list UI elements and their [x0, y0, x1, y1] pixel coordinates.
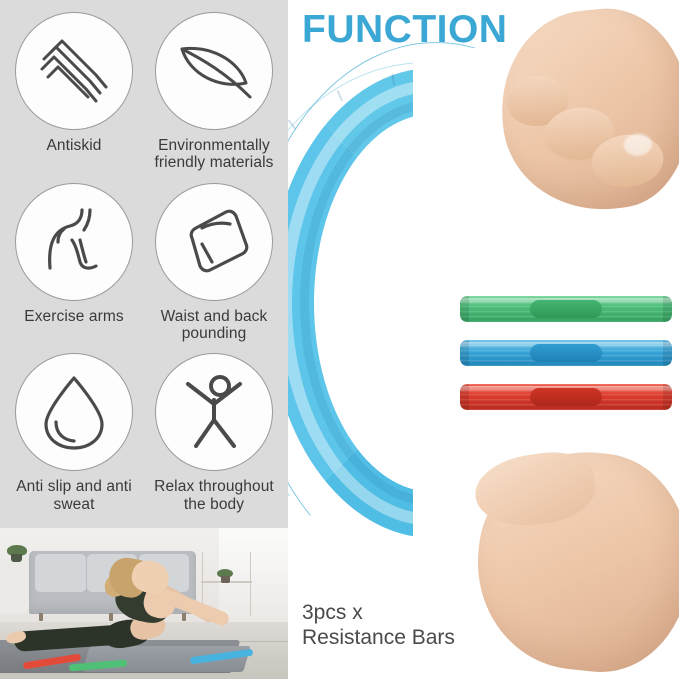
- stick-figure-icon: [168, 366, 260, 458]
- icon-badge: [155, 183, 273, 301]
- photo-plant: [6, 546, 28, 562]
- product-caption: 3pcs x Resistance Bars: [302, 600, 455, 651]
- product-infographic: Antiskid Environmentally friendly materi…: [0, 0, 679, 679]
- icon-badge: [15, 353, 133, 471]
- feature-item-antiskid: Antiskid: [4, 12, 144, 183]
- flexing-arm-icon: [28, 196, 120, 288]
- leaf-icon: [168, 25, 260, 117]
- feature-row: Exercise arms Waist and back pounding: [4, 183, 284, 354]
- feature-item-eco-materials: Environmentally friendly materials: [144, 12, 284, 183]
- hand-gripping-bottom: [467, 442, 679, 679]
- feature-label: Antiskid: [44, 137, 103, 154]
- green-resistance-bar: [460, 296, 672, 322]
- feature-panel: Antiskid Environmentally friendly materi…: [0, 0, 288, 528]
- feature-row: Antiskid Environmentally friendly materi…: [4, 12, 284, 183]
- woman-yoga-cobra-pose-photo: [0, 528, 288, 679]
- feature-label: Anti slip and anti sweat: [4, 478, 144, 513]
- feature-label: Relax throughout the body: [144, 478, 284, 513]
- zigzag-lines-icon: [28, 25, 120, 117]
- icon-badge: [155, 353, 273, 471]
- feature-item-anti-slip-sweat: Anti slip and anti sweat: [4, 353, 144, 524]
- water-drop-icon: [28, 366, 120, 458]
- icon-badge: [15, 12, 133, 130]
- blue-resistance-bar: [460, 340, 672, 366]
- feature-label: Environmentally friendly materials: [144, 137, 284, 172]
- hero-section: FUNCTION: [288, 0, 679, 679]
- massage-pad-icon: [168, 196, 260, 288]
- feature-row: Anti slip and anti sweat: [4, 353, 284, 524]
- icon-badge: [155, 12, 273, 130]
- page-title: FUNCTION: [302, 10, 507, 49]
- red-resistance-bar: [460, 384, 672, 410]
- feature-item-exercise-arms: Exercise arms: [4, 183, 144, 354]
- feature-label: Exercise arms: [22, 308, 125, 325]
- feature-item-waist-back-pounding: Waist and back pounding: [144, 183, 284, 354]
- feature-label: Waist and back pounding: [144, 308, 284, 343]
- feature-item-relax-body: Relax throughout the body: [144, 353, 284, 524]
- product-bars-group: [460, 296, 672, 410]
- icon-badge: [15, 183, 133, 301]
